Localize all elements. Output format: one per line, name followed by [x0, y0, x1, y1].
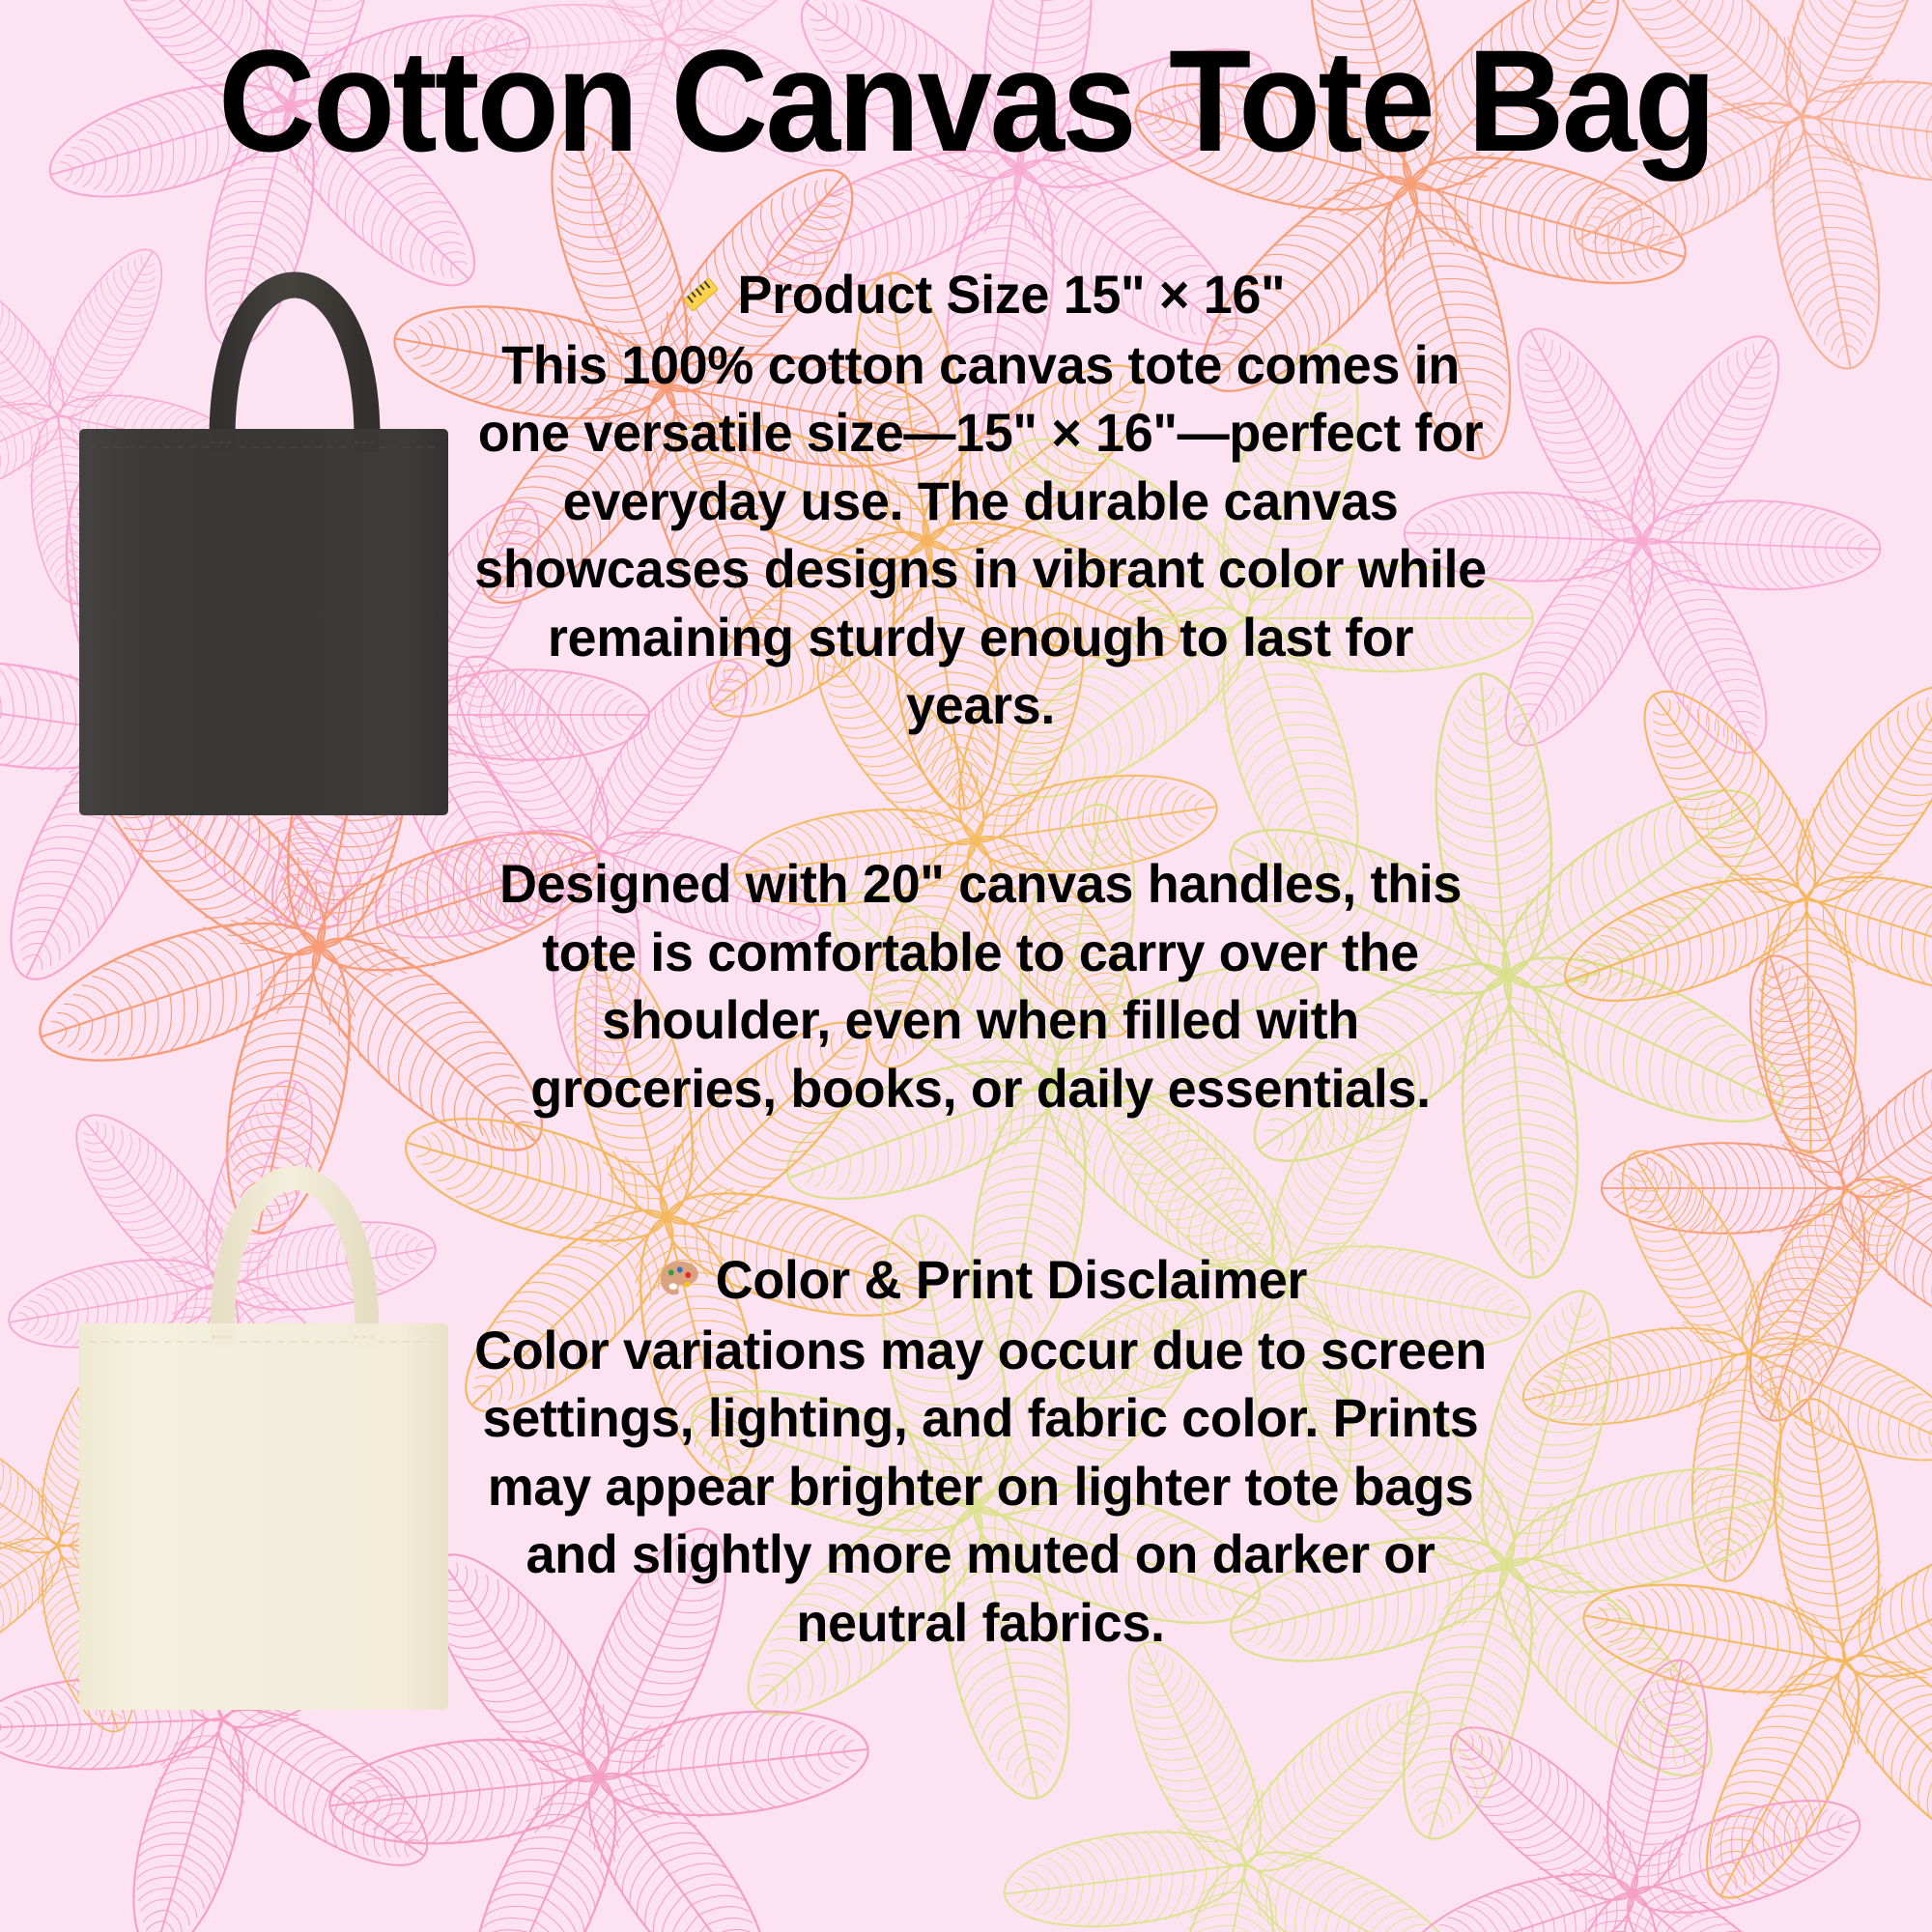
color-print-disclaimer-section: Color & Print Disclaimer Color variation…	[472, 1246, 1489, 1657]
disclaimer-heading: Color & Print Disclaimer	[472, 1246, 1489, 1315]
black-tote-bag	[75, 214, 452, 823]
straight-ruler-icon	[676, 269, 726, 321]
poster-canvas: Cotton Canvas Tote Bag	[0, 0, 1932, 1932]
product-size-section: Product Size 15" × 16" This 100% cotton …	[472, 261, 1489, 740]
product-size-body: This 100% cotton canvas tote comes in on…	[472, 331, 1489, 740]
handles-body: Designed with 20" canvas handles, this t…	[472, 850, 1489, 1122]
product-size-heading-text: Product Size 15" × 16"	[737, 264, 1285, 325]
product-size-heading: Product Size 15" × 16"	[472, 261, 1489, 329]
disclaimer-body: Color variations may occur due to screen…	[472, 1317, 1489, 1658]
page-title: Cotton Canvas Tote Bag	[68, 27, 1864, 175]
natural-tote-bag	[75, 1051, 452, 1718]
artist-palette-icon	[654, 1254, 704, 1306]
disclaimer-heading-text: Color & Print Disclaimer	[716, 1249, 1307, 1310]
handles-section: Designed with 20" canvas handles, this t…	[472, 850, 1489, 1122]
